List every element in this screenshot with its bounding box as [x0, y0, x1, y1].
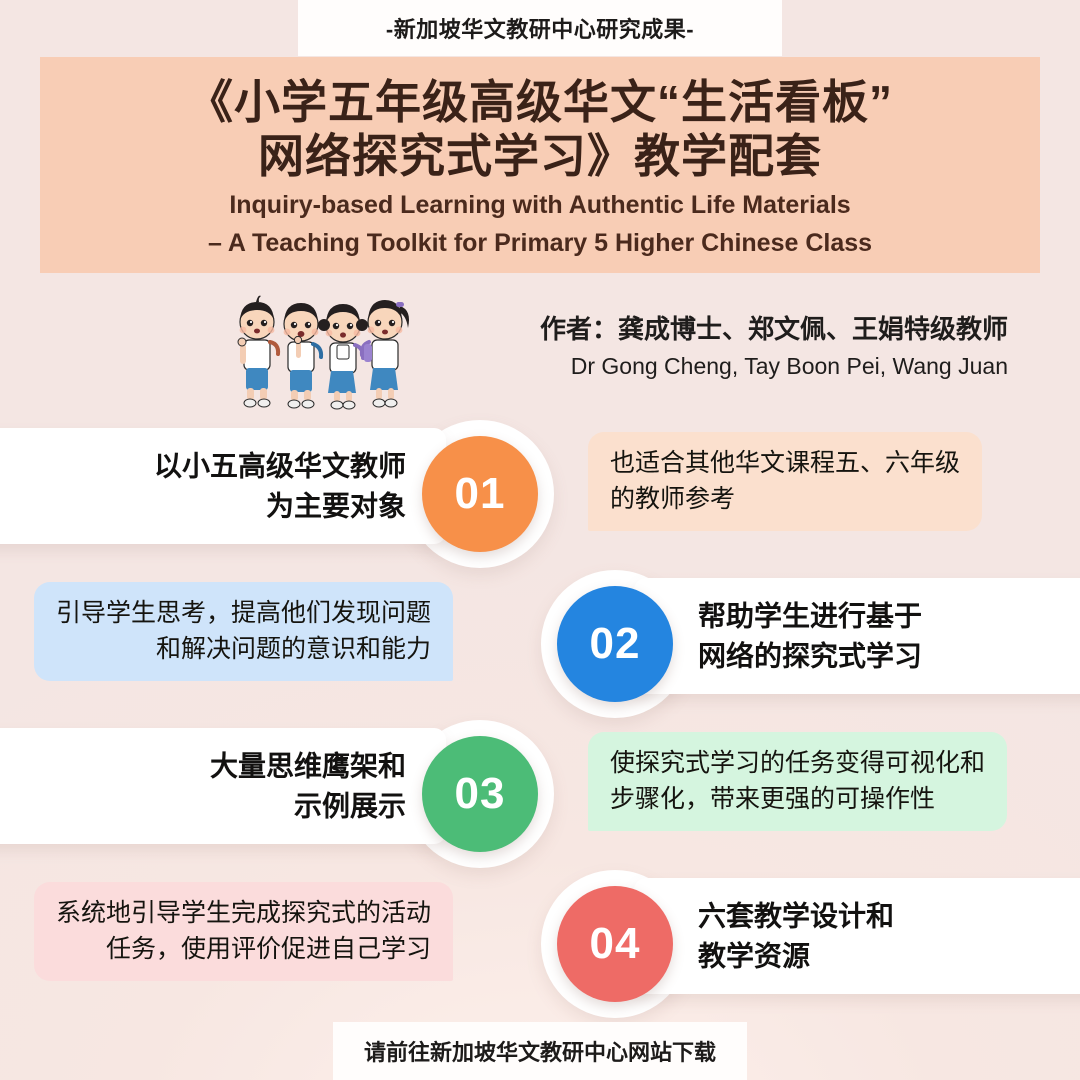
feature-headline-2-line2: 网络的探究式学习 — [698, 640, 922, 671]
step-number-3: 03 — [455, 769, 506, 819]
feature-headline-2-line1: 帮助学生进行基于 — [698, 600, 922, 631]
title-chinese-line2: 网络探究式学习》教学配套 — [258, 129, 822, 183]
title-band: 《小学五年级高级华文“生活看板” 网络探究式学习》教学配套 Inquiry-ba… — [40, 57, 1040, 273]
feature-callout-2: 引导学生思考，提高他们发现问题 和解决问题的意识和能力 — [34, 582, 453, 681]
feature-callout-4-line2: 任务，使用评价促进自己学习 — [56, 932, 431, 968]
feature-callout-2-line1: 引导学生思考，提高他们发现问题 — [56, 599, 431, 627]
step-circle-4[interactable]: 04 — [557, 886, 673, 1002]
feature-headline-3-line2: 示例展示 — [294, 790, 406, 821]
feature-callout-2-line2: 和解决问题的意识和能力 — [56, 632, 431, 668]
feature-callout-3-line2: 步骤化，带来更强的可操作性 — [610, 782, 985, 818]
feature-callout-1-line1: 也适合其他华文课程五、六年级 — [610, 449, 960, 477]
step-circle-1[interactable]: 01 — [422, 436, 538, 552]
feature-headline-4: 六套教学设计和 教学资源 — [698, 896, 894, 976]
feature-ribbon: 以小五高级华文教师 为主要对象 01 也适合其他华文课程五、六年级 的教师参考 … — [0, 404, 1080, 1024]
step-circle-3[interactable]: 03 — [422, 736, 538, 852]
authors-block: 作者：龚成博士、郑文佩、王娟特级教师 Dr Gong Cheng, Tay Bo… — [488, 312, 1008, 382]
feature-callout-4-line1: 系统地引导学生完成探究式的活动 — [56, 899, 431, 927]
poster-root: -新加坡华文教研中心研究成果- 《小学五年级高级华文“生活看板” 网络探究式学习… — [0, 0, 1080, 1080]
step-number-2: 02 — [590, 619, 641, 669]
feature-headline-1-line1: 以小五高级华文教师 — [154, 450, 406, 481]
eyebrow-text: -新加坡华文教研中心研究成果- — [0, 0, 1080, 56]
feature-headline-4-line2: 教学资源 — [698, 940, 810, 971]
feature-headline-1: 以小五高级华文教师 为主要对象 — [154, 446, 406, 526]
feature-panel-2: 帮助学生进行基于 网络的探究式学习 — [634, 578, 1080, 694]
footer-text: 请前往新加坡华文教研中心网站下载 — [0, 1022, 1080, 1080]
feature-headline-4-line1: 六套教学设计和 — [698, 900, 894, 931]
feature-headline-3-line1: 大量思维鹰架和 — [210, 750, 406, 781]
feature-headline-2: 帮助学生进行基于 网络的探究式学习 — [698, 596, 922, 676]
feature-panel-1: 以小五高级华文教师 为主要对象 — [0, 428, 446, 544]
feature-headline-1-line2: 为主要对象 — [266, 490, 406, 521]
feature-callout-3-line1: 使探究式学习的任务变得可视化和 — [610, 749, 985, 777]
feature-callout-4: 系统地引导学生完成探究式的活动 任务，使用评价促进自己学习 — [34, 882, 453, 981]
step-number-1: 01 — [455, 469, 506, 519]
feature-headline-3: 大量思维鹰架和 示例展示 — [210, 746, 406, 826]
authors-english: Dr Gong Cheng, Tay Boon Pei, Wang Juan — [488, 351, 1008, 382]
title-english-line1: Inquiry-based Learning with Authentic Li… — [229, 189, 850, 221]
authors-chinese: 作者：龚成博士、郑文佩、王娟特级教师 — [488, 312, 1008, 347]
feature-callout-1-line2: 的教师参考 — [610, 482, 960, 518]
feature-callout-1: 也适合其他华文课程五、六年级 的教师参考 — [588, 432, 982, 531]
feature-panel-4: 六套教学设计和 教学资源 — [634, 878, 1080, 994]
feature-callout-3: 使探究式学习的任务变得可视化和 步骤化，带来更强的可操作性 — [588, 732, 1007, 831]
title-english-line2: – A Teaching Toolkit for Primary 5 Highe… — [208, 227, 872, 259]
feature-panel-3: 大量思维鹰架和 示例展示 — [0, 728, 446, 844]
four-students-illustration — [232, 284, 432, 412]
title-chinese-line1: 《小学五年级高级华文“生活看板” — [187, 75, 893, 129]
step-number-4: 04 — [590, 919, 641, 969]
step-circle-2[interactable]: 02 — [557, 586, 673, 702]
